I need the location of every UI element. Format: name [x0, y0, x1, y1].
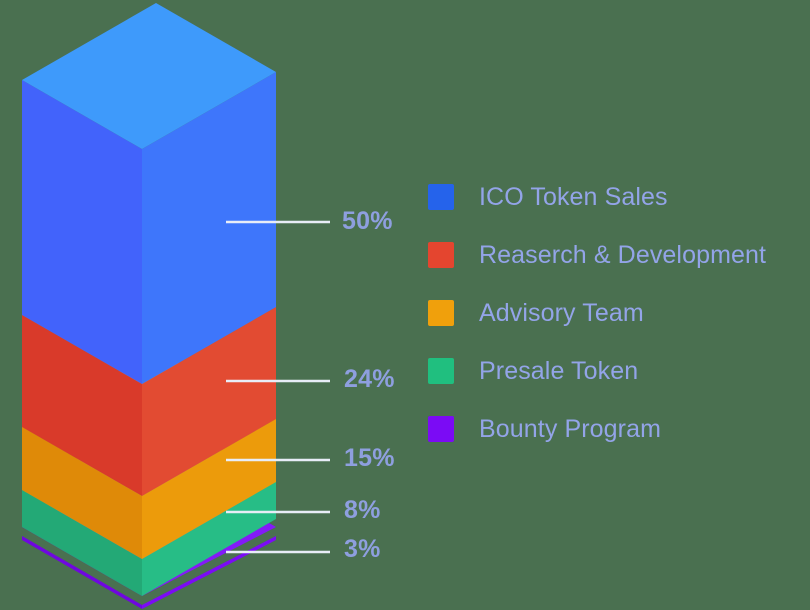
percent-label-research-development: 24% — [344, 367, 395, 392]
chart-legend: ICO Token Sales Reaserch & Development A… — [428, 168, 800, 458]
legend-swatch-icon-bounty-program — [428, 416, 454, 442]
legend-label-advisory-team: Advisory Team — [479, 299, 644, 328]
legend-swatch-icon-research-development — [428, 242, 454, 268]
legend-item-presale-token[interactable]: Presale Token — [428, 342, 800, 400]
legend-label-ico-token-sales: ICO Token Sales — [479, 183, 668, 212]
percent-label-advisory-team: 15% — [344, 446, 395, 471]
legend-item-ico-token-sales[interactable]: ICO Token Sales — [428, 168, 800, 226]
chart-segment-ico-token-sales[interactable] — [22, 3, 276, 384]
legend-item-research-development[interactable]: Reaserch & Development — [428, 226, 800, 284]
legend-item-advisory-team[interactable]: Advisory Team — [428, 284, 800, 342]
legend-swatch-icon-advisory-team — [428, 300, 454, 326]
percent-label-ico-token-sales: 50% — [342, 209, 393, 234]
percent-label-presale-token: 8% — [344, 498, 381, 523]
legend-item-bounty-program[interactable]: Bounty Program — [428, 400, 800, 458]
legend-label-bounty-program: Bounty Program — [479, 415, 661, 444]
infographic-canvas: 50% 24% 15% 8% 3% ICO Token Sales Reaser… — [0, 0, 810, 610]
percent-label-bounty-program: 3% — [344, 537, 381, 562]
legend-swatch-icon-ico-token-sales — [428, 184, 454, 210]
legend-label-research-development: Reaserch & Development — [479, 241, 766, 270]
legend-label-presale-token: Presale Token — [479, 357, 638, 386]
legend-swatch-icon-presale-token — [428, 358, 454, 384]
